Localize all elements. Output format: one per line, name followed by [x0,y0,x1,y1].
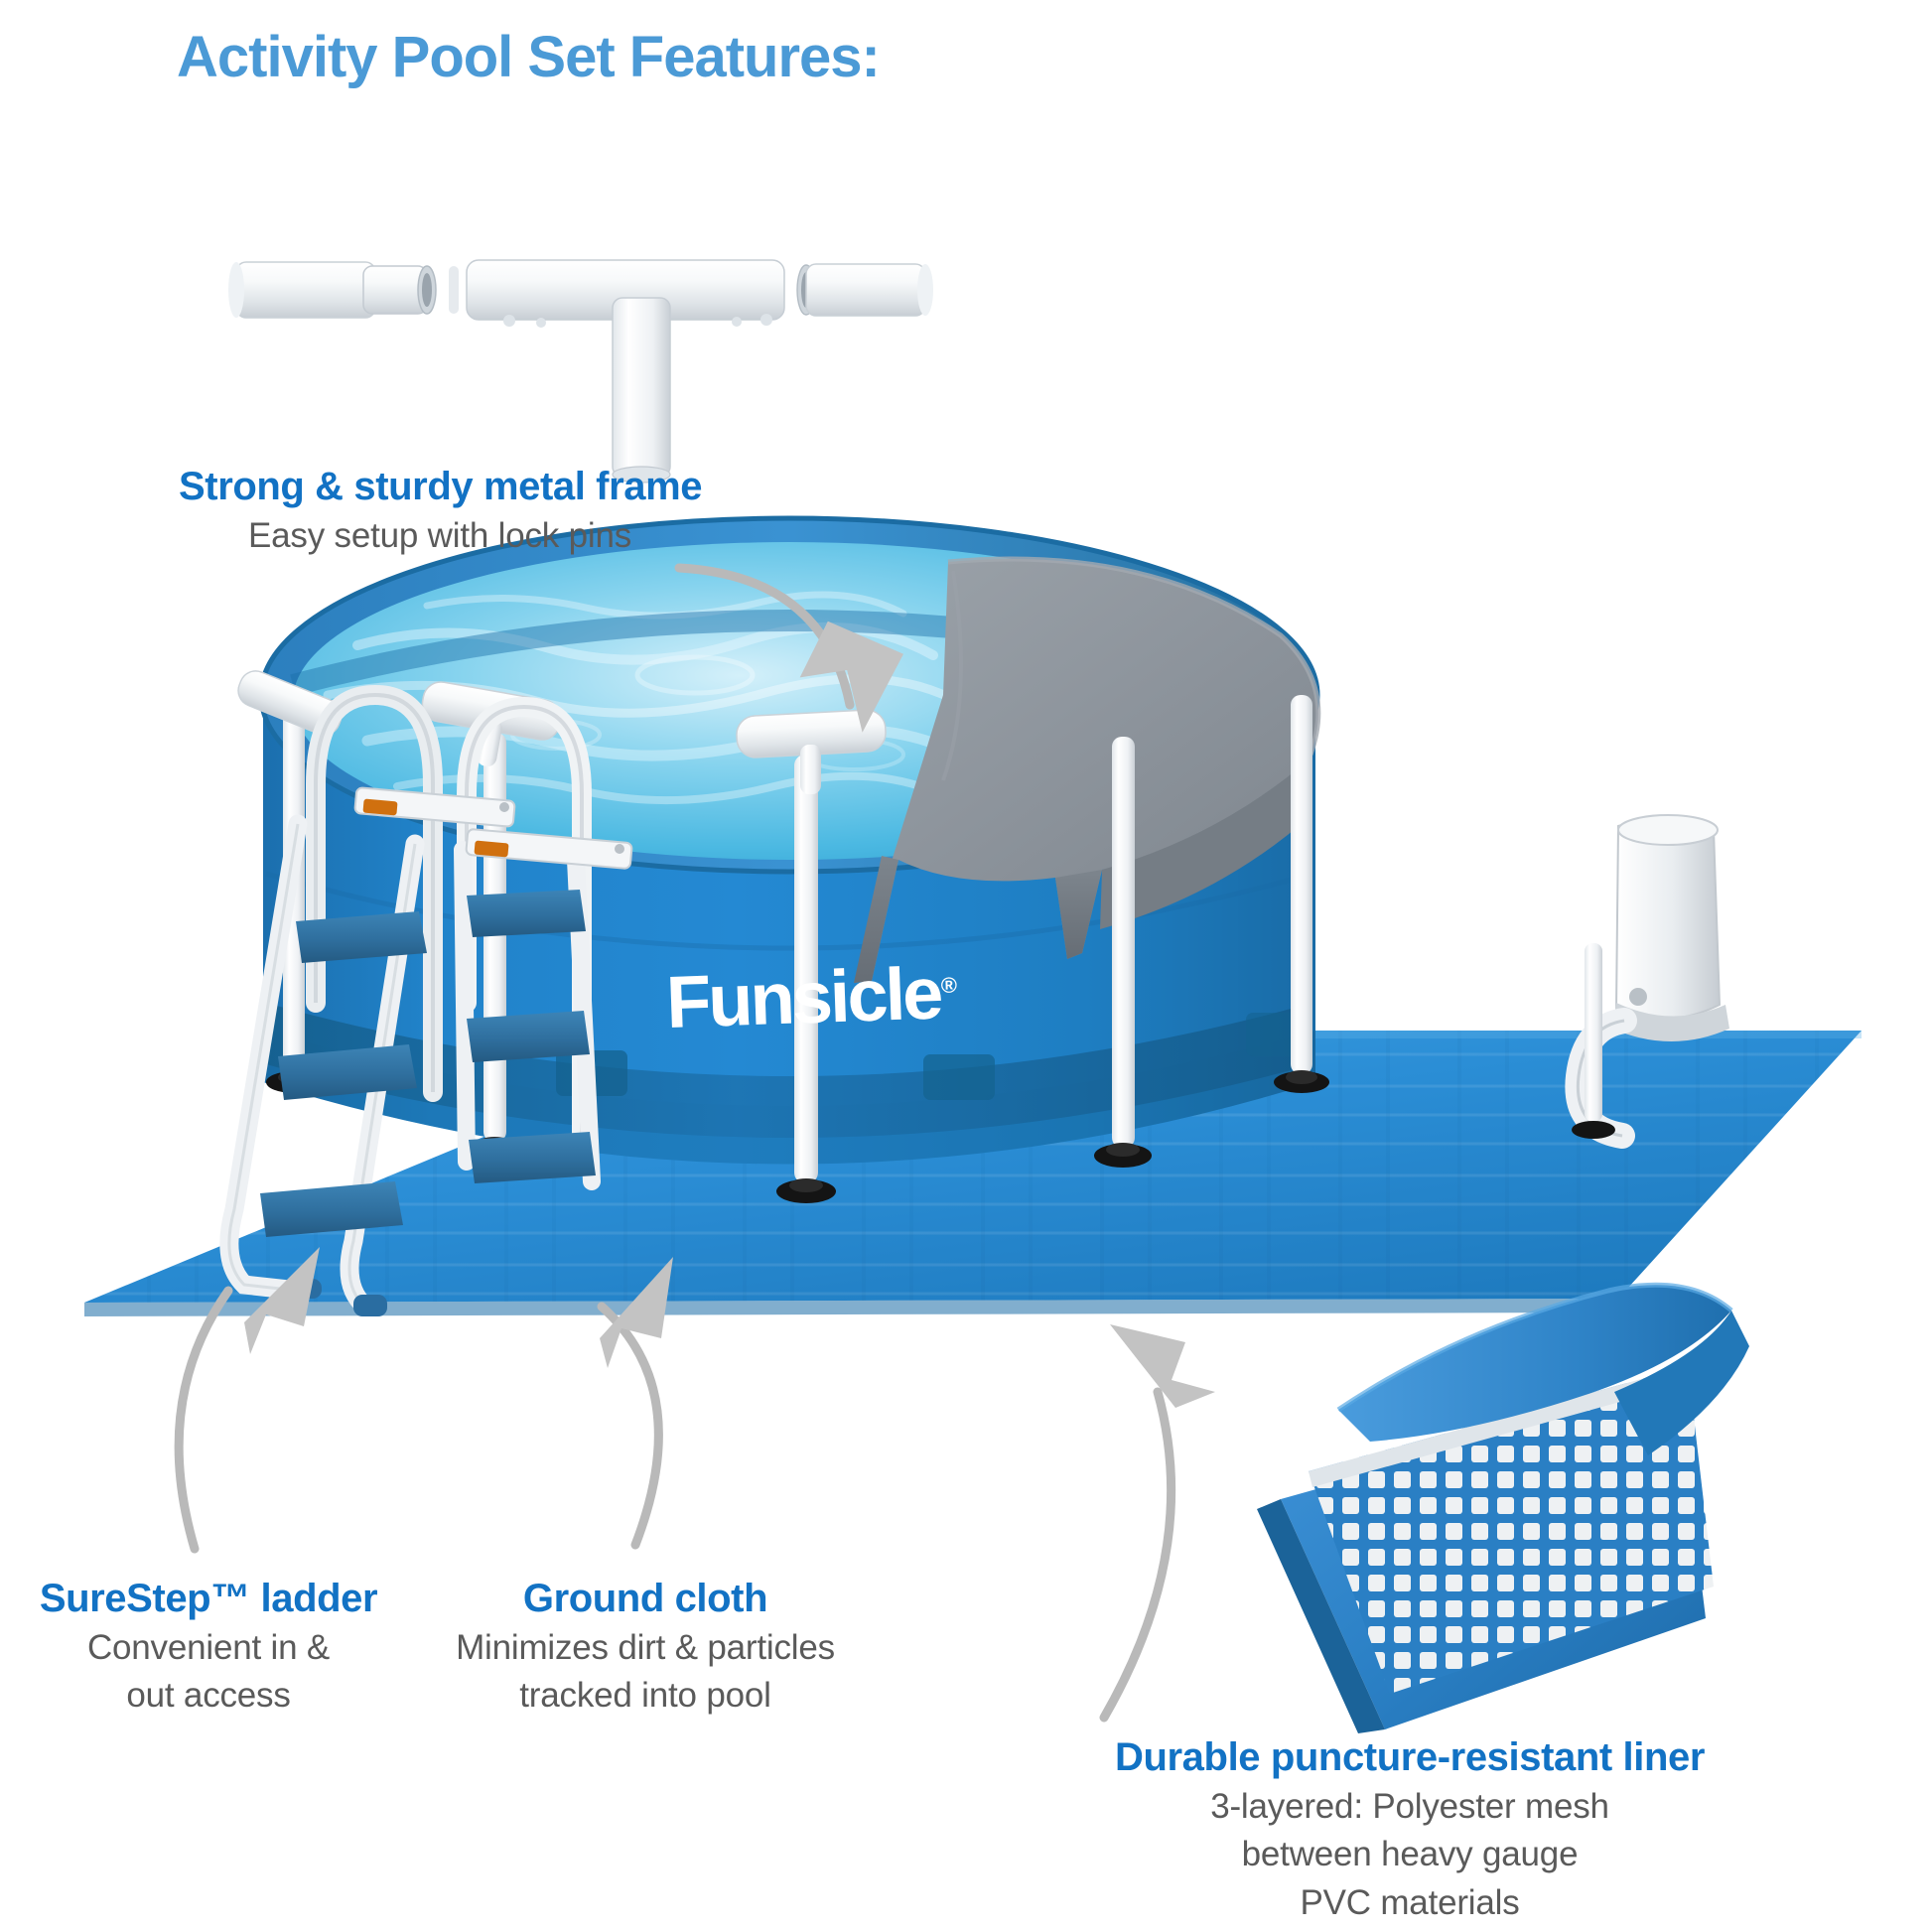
callout-durable-liner-sub-line2: between heavy gauge [1033,1834,1787,1876]
callout-ground-cloth-sub-line1: Minimizes dirt & particles [427,1627,864,1670]
callout-durable-liner-heading: Durable puncture-resistant liner [1033,1735,1787,1780]
svg-text:Funsicle: Funsicle [665,951,943,1043]
callout-metal-frame: Strong & sturdy metal frame Easy setup w… [179,465,702,557]
infographic-canvas: Activity Pool Set Features: [0,0,1932,1932]
callout-surestep-ladder-sub-line2: out access [10,1675,407,1718]
callout-surestep-ladder: SureStep™ ladder Convenient in & out acc… [10,1577,407,1718]
callout-metal-frame-heading: Strong & sturdy metal frame [179,465,702,509]
callout-durable-liner-sub-line1: 3-layered: Polyester mesh [1033,1786,1787,1829]
svg-text:®: ® [940,972,957,998]
brand-logo: Funsicle ® [665,951,958,1043]
callout-ground-cloth: Ground cloth Minimizes dirt & particles … [427,1577,864,1718]
callout-durable-liner-sub-line3: PVC materials [1033,1882,1787,1925]
callout-durable-liner: Durable puncture-resistant liner 3-layer… [1033,1735,1787,1925]
callout-ground-cloth-sub-line2: tracked into pool [427,1675,864,1718]
callout-ground-cloth-heading: Ground cloth [427,1577,864,1621]
callout-metal-frame-sub: Easy setup with lock pins [179,515,702,558]
callout-surestep-ladder-sub-line1: Convenient in & [10,1627,407,1670]
callout-surestep-ladder-heading: SureStep™ ladder [10,1577,407,1621]
t-joint-pipe-icon [228,260,933,483]
liner-swatch-icon [1257,1285,1749,1733]
